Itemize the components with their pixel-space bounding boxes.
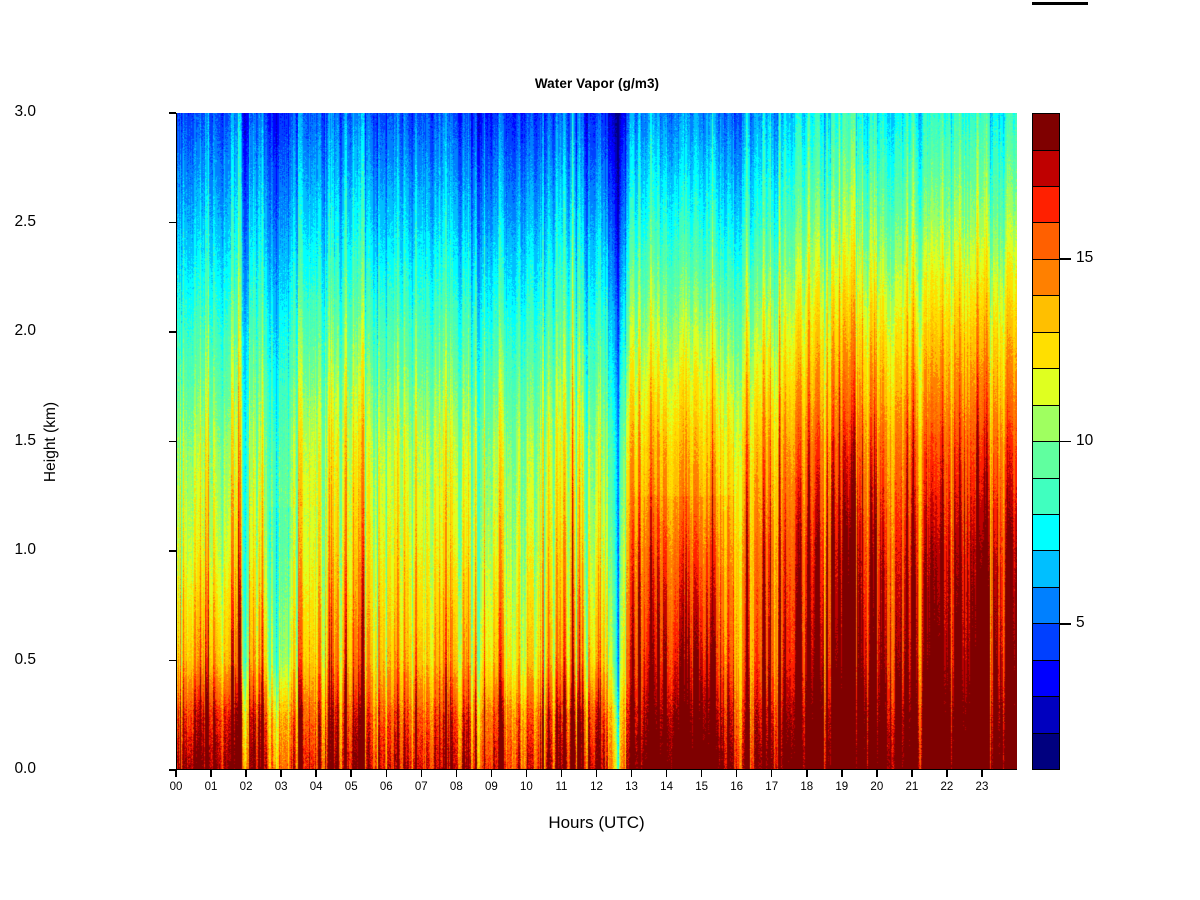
colorbar-band — [1033, 660, 1059, 696]
y-tick-label: 1.5 — [14, 432, 36, 450]
x-tick-label: 01 — [194, 781, 228, 793]
colorbar-band — [1033, 222, 1059, 258]
x-tick-mark — [491, 770, 493, 777]
x-tick-mark — [806, 770, 808, 777]
x-tick-label: 21 — [895, 781, 929, 793]
x-tick-label: 13 — [615, 781, 649, 793]
x-axis-title: Hours (UTC) — [176, 813, 1017, 833]
y-axis-title: Height (km) — [42, 362, 60, 522]
colorbar-band — [1033, 550, 1059, 586]
colorbar-band — [1033, 368, 1059, 404]
y-tick-label: 2.5 — [14, 213, 36, 231]
x-tick-label: 15 — [685, 781, 719, 793]
colorbar-tick-label: 15 — [1076, 249, 1093, 267]
colorbar-band — [1033, 332, 1059, 368]
x-tick-label: 17 — [755, 781, 789, 793]
x-tick-label: 06 — [369, 781, 403, 793]
x-tick-label: 16 — [720, 781, 754, 793]
y-tick-mark — [169, 222, 176, 224]
x-tick-mark — [315, 770, 317, 777]
colorbar-band — [1033, 259, 1059, 295]
x-tick-label: 07 — [404, 781, 438, 793]
x-tick-label: 19 — [825, 781, 859, 793]
x-tick-label: 05 — [334, 781, 368, 793]
x-tick-label: 02 — [229, 781, 263, 793]
x-tick-label: 11 — [544, 781, 578, 793]
x-tick-label: 00 — [159, 781, 193, 793]
y-tick-mark — [169, 112, 176, 114]
y-tick-mark — [169, 441, 176, 443]
x-tick-label: 08 — [439, 781, 473, 793]
colorbar-tick-mark — [1060, 441, 1071, 442]
colorbar-band — [1033, 405, 1059, 441]
x-tick-mark — [981, 770, 983, 777]
y-tick-mark — [169, 331, 176, 333]
page-title: Water Vapor (g/m3) — [176, 76, 1018, 91]
x-tick-mark — [666, 770, 668, 777]
x-tick-label: 03 — [264, 781, 298, 793]
colorbar-band — [1033, 587, 1059, 623]
x-tick-mark — [526, 770, 528, 777]
y-tick-mark — [169, 660, 176, 662]
x-tick-mark — [736, 770, 738, 777]
colorbar-band — [1033, 514, 1059, 550]
x-tick-mark — [210, 770, 212, 777]
colorbar-band — [1033, 623, 1059, 659]
colorbar-band — [1033, 478, 1059, 514]
colorbar-band — [1033, 733, 1059, 769]
x-tick-mark — [421, 770, 423, 777]
water-vapor-heatmap — [176, 113, 1017, 770]
x-tick-mark — [350, 770, 352, 777]
x-tick-mark — [876, 770, 878, 777]
x-tick-mark — [561, 770, 563, 777]
x-tick-mark — [631, 770, 633, 777]
x-tick-label: 04 — [299, 781, 333, 793]
colorbar-band — [1033, 441, 1059, 477]
x-tick-label: 20 — [860, 781, 894, 793]
x-tick-label: 22 — [930, 781, 964, 793]
colorbar-tick-label: 10 — [1076, 432, 1093, 450]
x-tick-label: 12 — [580, 781, 614, 793]
x-tick-mark — [946, 770, 948, 777]
x-tick-label: 09 — [474, 781, 508, 793]
x-tick-mark — [841, 770, 843, 777]
colorbar-band — [1033, 186, 1059, 222]
x-tick-label: 14 — [650, 781, 684, 793]
y-tick-label: 3.0 — [14, 103, 36, 121]
colorbar-band — [1033, 295, 1059, 331]
y-tick-label: 2.0 — [14, 322, 36, 340]
y-tick-label: 0.5 — [14, 651, 36, 669]
x-tick-mark — [175, 770, 177, 777]
x-tick-mark — [596, 770, 598, 777]
colorbar-band — [1033, 696, 1059, 732]
colorbar-tick-mark — [1060, 623, 1071, 624]
y-tick-label: 1.0 — [14, 541, 36, 559]
colorbar-band — [1033, 114, 1059, 149]
x-tick-mark — [701, 770, 703, 777]
colorbar-tick-label: 5 — [1076, 614, 1085, 632]
water-vapor-timeheight-figure: Water Vapor (g/m3) 0.00.51.01.52.02.53.0… — [0, 0, 1200, 900]
x-tick-label: 23 — [965, 781, 999, 793]
x-tick-mark — [771, 770, 773, 777]
x-tick-mark — [280, 770, 282, 777]
x-tick-mark — [386, 770, 388, 777]
x-tick-mark — [456, 770, 458, 777]
x-tick-mark — [245, 770, 247, 777]
x-tick-mark — [911, 770, 913, 777]
x-tick-label: 10 — [509, 781, 543, 793]
x-tick-label: 18 — [790, 781, 824, 793]
colorbar-tick-mark — [1060, 258, 1071, 259]
colorbar — [1032, 113, 1060, 770]
y-tick-label: 0.0 — [14, 760, 36, 778]
corner-rule-mark — [1032, 2, 1088, 5]
y-tick-mark — [169, 550, 176, 552]
colorbar-band — [1033, 150, 1059, 186]
heatmap-plot-area — [176, 113, 1017, 770]
